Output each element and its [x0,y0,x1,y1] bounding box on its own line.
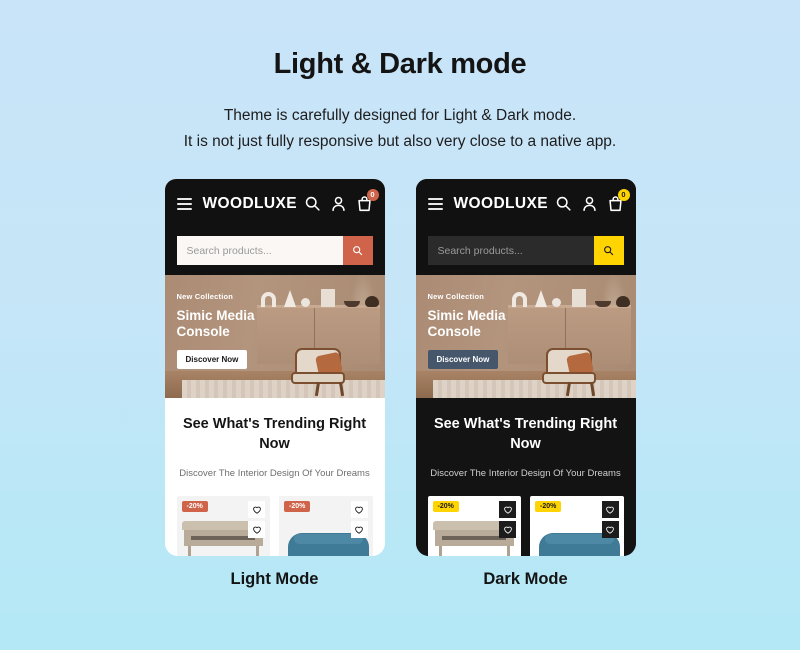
discover-now-button[interactable]: Discover Now [428,350,499,369]
light-mode-phone: WOODLUXE [165,179,385,556]
trending-title: See What's Trending Right Now [177,414,373,454]
trending-subtitle: Discover The Interior Design Of Your Dre… [428,466,624,481]
product-card[interactable]: -20% [530,496,624,556]
heart-icon[interactable] [351,501,368,518]
hero-banner-dark[interactable]: New Collection Simic Media Console Disco… [416,275,636,398]
hero-title: Simic Media Console [177,308,272,340]
dark-mode-caption: Dark Mode [416,570,636,589]
header-icon-group: 0 [304,195,373,212]
heart-icon[interactable] [499,501,516,518]
hero-kicker: New Collection [177,292,272,301]
light-mode-column: WOODLUXE [165,179,385,589]
search-input[interactable]: Search products... [428,236,594,265]
heart-icon[interactable] [602,521,619,538]
trending-section-dark: See What's Trending Right Now Discover T… [416,398,636,556]
search-icon[interactable] [304,195,321,212]
heart-icon[interactable] [351,521,368,538]
page-title: Light & Dark mode [0,48,800,81]
app-header-light: WOODLUXE [165,179,385,228]
discount-badge: -20% [433,501,459,512]
cart-count-badge: 0 [618,189,630,201]
trending-title: See What's Trending Right Now [428,414,624,454]
heart-icon[interactable] [248,521,265,538]
product-card[interactable]: -20% [279,496,373,556]
heart-icon[interactable] [602,501,619,518]
product-card[interactable]: -20% [428,496,522,556]
heart-icon[interactable] [499,521,516,538]
hero-copy: New Collection Simic Media Console Disco… [177,292,272,369]
product-card-list: -20% [177,496,373,556]
product-card-list: -20% [428,496,624,556]
search-submit-button[interactable] [343,236,373,265]
page-subtitle-line-2: It is not just fully responsive but also… [0,129,800,155]
search-bar-light: Search products... [165,228,385,275]
brand-logo[interactable]: WOODLUXE [454,195,548,213]
dark-mode-phone: WOODLUXE [416,179,636,556]
hero-banner-light[interactable]: New Collection Simic Media Console Disco… [165,275,385,398]
cart-icon[interactable]: 0 [356,195,373,212]
search-row: Search products... [428,236,624,265]
search-bar-dark: Search products... [416,228,636,275]
search-submit-button[interactable] [594,236,624,265]
discount-badge: -20% [535,501,561,512]
heart-icon[interactable] [248,501,265,518]
hamburger-icon[interactable] [428,198,443,210]
page-header: Light & Dark mode Theme is carefully des… [0,0,800,155]
trending-subtitle: Discover The Interior Design Of Your Dre… [177,466,373,481]
brand-logo[interactable]: WOODLUXE [203,195,297,213]
search-row: Search products... [177,236,373,265]
trending-section-light: See What's Trending Right Now Discover T… [165,398,385,556]
hero-kicker: New Collection [428,292,523,301]
app-header-dark: WOODLUXE [416,179,636,228]
phone-mockups: WOODLUXE [0,179,800,589]
search-icon[interactable] [555,195,572,212]
hero-copy: New Collection Simic Media Console Disco… [428,292,523,369]
user-icon[interactable] [330,195,347,212]
discount-badge: -20% [182,501,208,512]
light-mode-caption: Light Mode [165,570,385,589]
page-subtitle-line-1: Theme is carefully designed for Light & … [0,103,800,129]
page-subtitle: Theme is carefully designed for Light & … [0,103,800,155]
cart-count-badge: 0 [367,189,379,201]
dark-mode-column: WOODLUXE [416,179,636,589]
product-card[interactable]: -20% [177,496,271,556]
user-icon[interactable] [581,195,598,212]
discount-badge: -20% [284,501,310,512]
discover-now-button[interactable]: Discover Now [177,350,248,369]
cart-icon[interactable]: 0 [607,195,624,212]
search-input[interactable]: Search products... [177,236,343,265]
hamburger-icon[interactable] [177,198,192,210]
hero-title: Simic Media Console [428,308,523,340]
header-icon-group: 0 [555,195,624,212]
